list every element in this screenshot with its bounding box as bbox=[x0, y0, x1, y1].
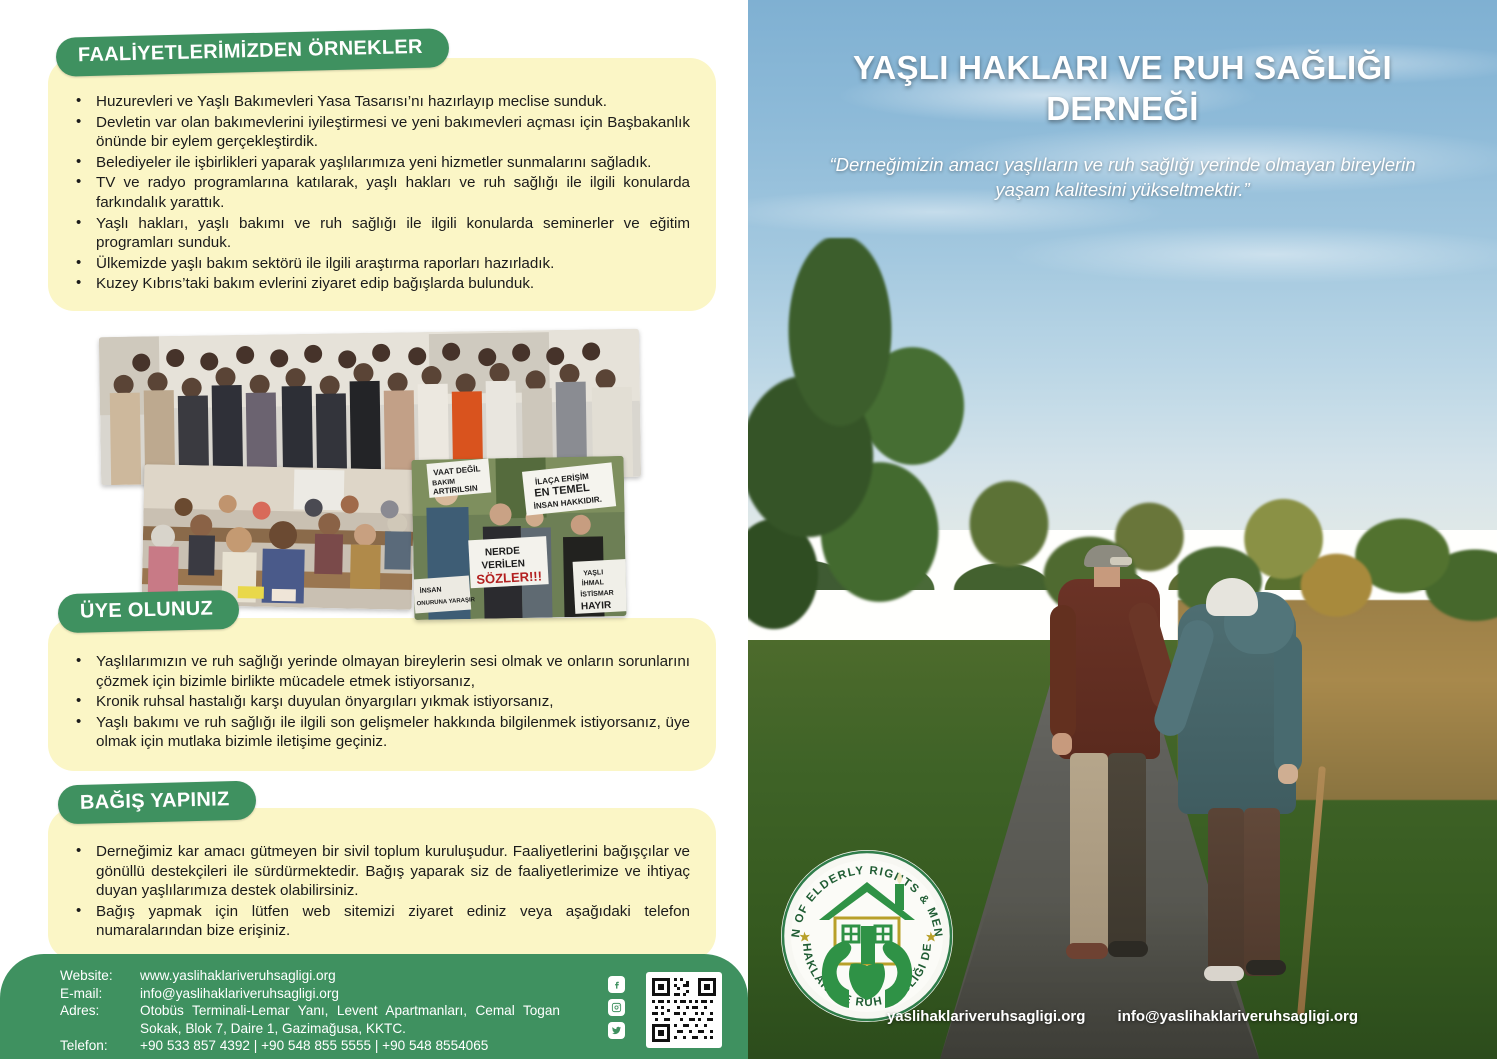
list-item: Huzurevleri ve Yaşlı Bakımevleri Yasa Ta… bbox=[70, 92, 690, 112]
right-website[interactable]: yaslihaklariveruhsagligi.org bbox=[887, 1008, 1085, 1025]
page-title: YAŞLI HAKLARI VE RUH SAĞLIĞI DERNEĞİ bbox=[748, 48, 1497, 130]
contact-details: Website: www.yaslihaklariveruhsagligi.or… bbox=[60, 967, 560, 1055]
photo-collage: VAAT DEĞİL BAKIM ARTIRILSIN İLAÇA ERİŞİM… bbox=[95, 333, 640, 628]
list-item: Devletin var olan bakımevlerini iyileşti… bbox=[70, 113, 690, 152]
right-email[interactable]: info@yaslihaklariveruhsagligi.org bbox=[1118, 1008, 1359, 1025]
list-item: Kuzey Kıbrıs’taki bakım evlerini ziyaret… bbox=[70, 274, 690, 294]
svg-text:HAYIR: HAYIR bbox=[581, 600, 613, 613]
left-panel: FAALİYETLERİMİZDEN ÖRNEKLER Huzurevleri … bbox=[0, 0, 748, 1059]
contact-label-address: Adres: bbox=[60, 1002, 136, 1037]
elderly-man bbox=[1048, 545, 1168, 965]
svg-text:İHMAL: İHMAL bbox=[582, 578, 605, 587]
contact-value-address: Otobüs Terminali-Lemar Yanı, Levent Apar… bbox=[140, 1002, 560, 1037]
contact-value-website[interactable]: www.yaslihaklariveruhsagligi.org bbox=[140, 967, 560, 985]
contact-value-phone[interactable]: +90 533 857 4392 | +90 548 855 5555 | +9… bbox=[140, 1037, 560, 1055]
list-item: Belediyeler ile işbirlikleri yaparak yaş… bbox=[70, 153, 690, 173]
list-item: TV ve radyo programlarına katılarak, yaş… bbox=[70, 173, 690, 212]
list-item: Yaşlı bakımı ve ruh sağlığı ile ilgili s… bbox=[70, 713, 690, 752]
mission-statement: “Derneğimizin amacı yaşlıların ve ruh sa… bbox=[748, 152, 1497, 203]
section-card-donation: Derneğimiz kar amacı gütmeyen bir sivil … bbox=[48, 808, 716, 960]
section-heading-donation: BAĞIŞ YAPINIZ bbox=[58, 781, 256, 825]
list-item: Kronik ruhsal hastalığı karşı duyulan ön… bbox=[70, 692, 690, 712]
protest-photo: VAAT DEĞİL BAKIM ARTIRILSIN İLAÇA ERİŞİM… bbox=[411, 456, 626, 620]
svg-text:İNSAN: İNSAN bbox=[419, 586, 441, 596]
qr-code[interactable] bbox=[646, 972, 722, 1048]
contact-label-website: Website: bbox=[60, 967, 136, 985]
list-item: Bağış yapmak için lütfen web sitemizi zi… bbox=[70, 902, 690, 941]
section-card-activities: Huzurevleri ve Yaşlı Bakımevleri Yasa Ta… bbox=[48, 58, 716, 311]
brochure-page: FAALİYETLERİMİZDEN ÖRNEKLER Huzurevleri … bbox=[0, 0, 1497, 1059]
social-links bbox=[608, 976, 625, 1039]
activities-list: Huzurevleri ve Yaşlı Bakımevleri Yasa Ta… bbox=[70, 92, 690, 294]
workshop-photo bbox=[142, 464, 415, 610]
donation-list: Derneğimiz kar amacı gütmeyen bir sivil … bbox=[70, 842, 690, 941]
right-panel-contact: yaslihaklariveruhsagligi.org info@yaslih… bbox=[748, 1008, 1497, 1025]
section-card-membership: Yaşlılarımızın ve ruh sağlığı yerinde ol… bbox=[48, 618, 716, 771]
membership-list: Yaşlılarımızın ve ruh sağlığı yerinde ol… bbox=[70, 652, 690, 752]
section-heading-membership: ÜYE OLUNUZ bbox=[58, 590, 240, 633]
svg-text:NERDE: NERDE bbox=[485, 546, 521, 559]
elderly-woman bbox=[1178, 578, 1308, 978]
instagram-icon[interactable] bbox=[608, 999, 625, 1016]
list-item: Ülkemizde yaşlı bakım sektörü ile ilgili… bbox=[70, 254, 690, 274]
contact-value-email[interactable]: info@yaslihaklariveruhsagligi.org bbox=[140, 985, 560, 1003]
list-item: Derneğimiz kar amacı gütmeyen bir sivil … bbox=[70, 842, 690, 901]
list-item: Yaşlı hakları, yaşlı bakımı ve ruh sağlı… bbox=[70, 214, 690, 253]
list-item: Yaşlılarımızın ve ruh sağlığı yerinde ol… bbox=[70, 652, 690, 691]
twitter-icon[interactable] bbox=[608, 1022, 625, 1039]
contact-label-email: E-mail: bbox=[60, 985, 136, 1003]
association-logo: ASSOCIATION OF ELDERLY RIGHTS & MENTAL H… bbox=[777, 846, 957, 1026]
title-block: YAŞLI HAKLARI VE RUH SAĞLIĞI DERNEĞİ “De… bbox=[748, 48, 1497, 203]
facebook-icon[interactable] bbox=[608, 976, 625, 993]
contact-label-phone: Telefon: bbox=[60, 1037, 136, 1055]
svg-text:YAŞLI: YAŞLI bbox=[583, 569, 603, 577]
